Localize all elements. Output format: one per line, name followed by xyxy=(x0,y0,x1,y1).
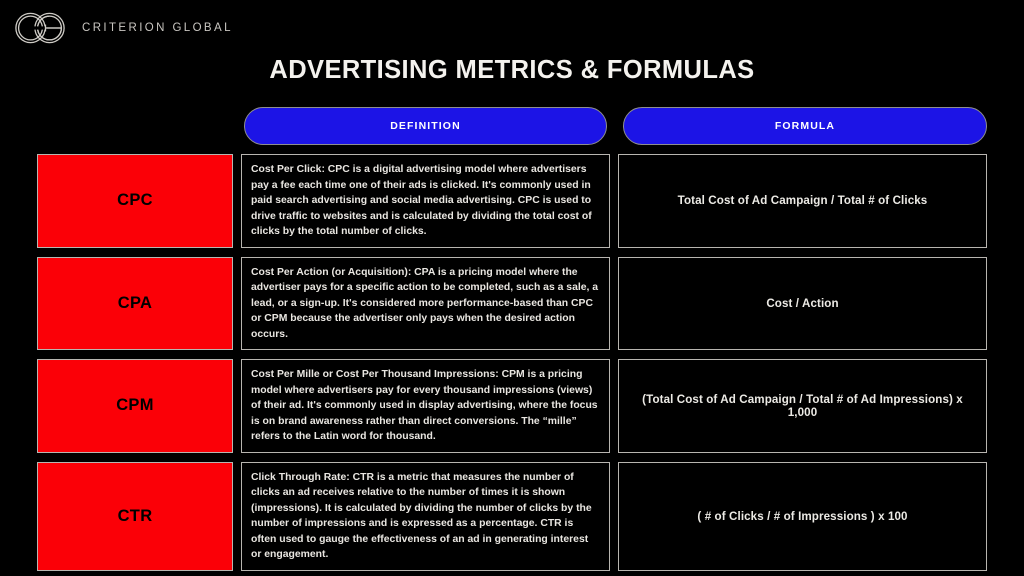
formula-cell-cpm: (Total Cost of Ad Campaign / Total # of … xyxy=(618,359,987,453)
definition-cell-cpm: Cost Per Mille or Cost Per Thousand Impr… xyxy=(241,359,610,453)
formula-text: ( # of Clicks / # of Impressions ) x 100 xyxy=(697,510,907,523)
definition-text: Cost Per Click: CPC is a digital adverti… xyxy=(251,162,600,240)
formula-text: Cost / Action xyxy=(766,297,838,310)
criterion-global-monogram-icon xyxy=(12,10,68,46)
definition-cell-cpc: Cost Per Click: CPC is a digital adverti… xyxy=(241,154,610,248)
column-header-definition[interactable]: DEFINITION xyxy=(244,107,607,145)
metric-label: CTR xyxy=(118,507,153,526)
metric-label: CPA xyxy=(118,294,153,313)
metric-label: CPC xyxy=(117,191,153,210)
column-headers: DEFINITION FORMULA xyxy=(244,107,987,145)
column-header-formula[interactable]: FORMULA xyxy=(623,107,987,145)
table-row: CPC Cost Per Click: CPC is a digital adv… xyxy=(37,154,987,248)
definition-cell-cpa: Cost Per Action (or Acquisition): CPA is… xyxy=(241,257,610,351)
formula-cell-cpc: Total Cost of Ad Campaign / Total # of C… xyxy=(618,154,987,248)
metric-cell-ctr[interactable]: CTR xyxy=(37,462,233,571)
metric-label: CPM xyxy=(116,396,154,415)
brand-name: CRITERION GLOBAL xyxy=(82,22,233,34)
table-row: CPM Cost Per Mille or Cost Per Thousand … xyxy=(37,359,987,453)
column-header-formula-label: FORMULA xyxy=(775,120,835,132)
formula-cell-cpa: Cost / Action xyxy=(618,257,987,351)
column-header-definition-label: DEFINITION xyxy=(390,120,461,132)
formula-text: (Total Cost of Ad Campaign / Total # of … xyxy=(629,393,976,419)
formula-cell-ctr: ( # of Clicks / # of Impressions ) x 100 xyxy=(618,462,987,571)
metric-cell-cpc[interactable]: CPC xyxy=(37,154,233,248)
definition-text: Cost Per Action (or Acquisition): CPA is… xyxy=(251,265,600,343)
metric-cell-cpa[interactable]: CPA xyxy=(37,257,233,351)
metrics-table: CPC Cost Per Click: CPC is a digital adv… xyxy=(37,154,987,547)
table-row: CPA Cost Per Action (or Acquisition): CP… xyxy=(37,257,987,351)
metric-cell-cpm[interactable]: CPM xyxy=(37,359,233,453)
table-row: CTR Click Through Rate: CTR is a metric … xyxy=(37,462,987,571)
definition-text: Cost Per Mille or Cost Per Thousand Impr… xyxy=(251,367,600,445)
definition-cell-ctr: Click Through Rate: CTR is a metric that… xyxy=(241,462,610,571)
definition-text: Click Through Rate: CTR is a metric that… xyxy=(251,470,600,563)
page-title: ADVERTISING METRICS & FORMULAS xyxy=(0,56,1024,85)
brand-lockup: CRITERION GLOBAL xyxy=(12,10,233,46)
formula-text: Total Cost of Ad Campaign / Total # of C… xyxy=(678,194,928,207)
